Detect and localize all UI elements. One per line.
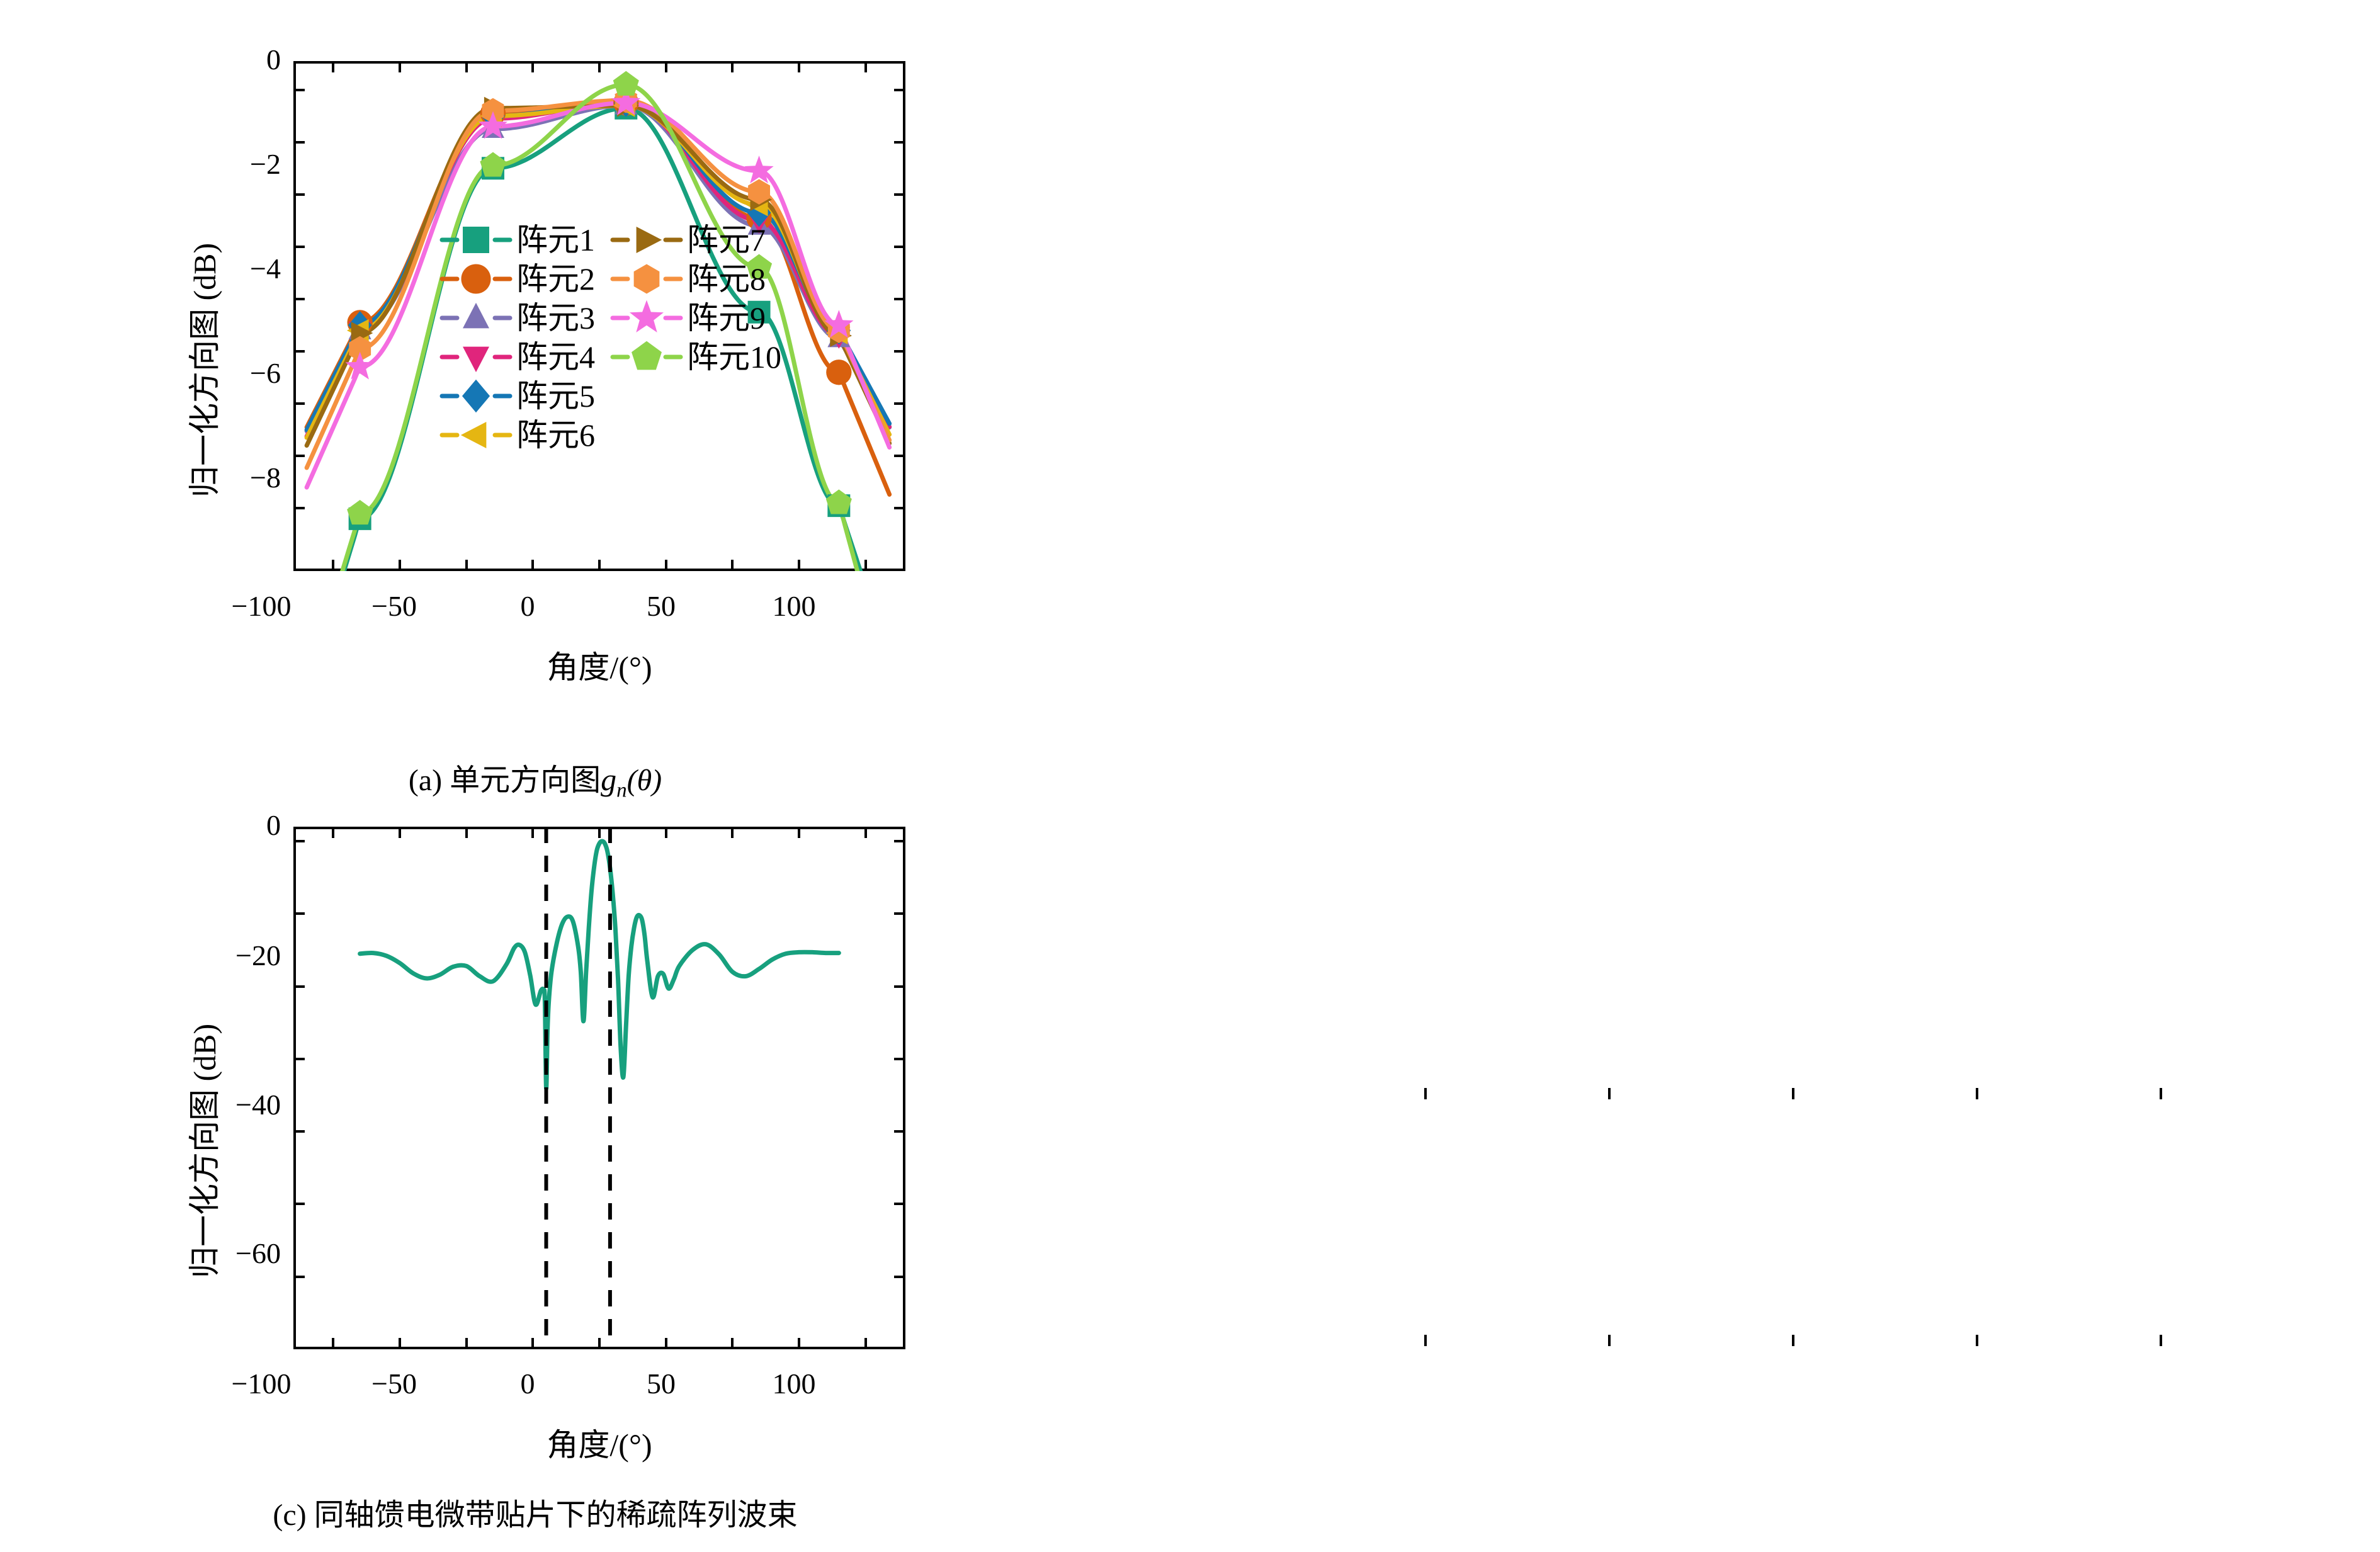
panel-c-plot (293, 827, 905, 1349)
panel-c-xtick-mark (531, 1338, 534, 1349)
panel-b: 60 mm 48.4 mm 50 mm 39.1 mm 25.85 mm (1196, 0, 2380, 844)
legend-item-2[interactable]: 阵元2 (441, 259, 595, 298)
legend-marker-triangle-up-icon (441, 301, 511, 335)
panel-c-ytick-0: 0 (218, 811, 281, 840)
panel-c-xtick-mark-top (598, 827, 601, 838)
panel-a-caption-g: g (601, 762, 616, 797)
panel-d-xtick-mark (1608, 1335, 1611, 1346)
panel-a-xtick-mark-top (332, 61, 334, 72)
legend-item-6[interactable]: 阵元6 (441, 416, 595, 455)
panel-a-ytick-2: −4 (218, 254, 281, 283)
legend-marker-circle-icon (441, 262, 511, 296)
panel-a-ytick-mark-right (894, 193, 905, 196)
panel-a-xtick-mark-top (798, 61, 800, 72)
panel-c-xtick-mark (332, 1338, 334, 1349)
panel-c-ylabel: 归一化方向图 (dB) (189, 1024, 220, 1278)
panel-d-xtick-mark (2160, 1335, 2162, 1346)
panel-c-ytick-mark (293, 1058, 305, 1060)
legend-item-5[interactable]: 阵元5 (441, 377, 595, 416)
legend-marker-diamond-icon (441, 379, 511, 413)
panel-a-ytick-mark-right (894, 89, 905, 91)
panel-c-ytick-mark (293, 1130, 305, 1133)
panel-c-ytick-mark-right (894, 1276, 905, 1278)
panel-a-ytick-mark-right (894, 350, 905, 353)
panel-c-caption: (c) 同轴馈电微带贴片下的稀疏阵列波束 (157, 1495, 913, 1536)
legend-label-8: 阵元8 (687, 263, 766, 295)
legend-label-1: 阵元1 (516, 224, 595, 256)
panel-c-ytick-mark-right (894, 985, 905, 988)
panel-a-ytick-0: 0 (230, 45, 281, 74)
legend-label-6: 阵元6 (516, 419, 595, 451)
panel-a-ytick-mark-right (894, 246, 905, 248)
panel-a-xtick-mark-top (399, 61, 401, 72)
legend-item-4[interactable]: 阵元4 (441, 337, 595, 377)
panel-d-xtick-mark-top (1608, 1088, 1611, 1099)
panel-c-xtick-3: 50 (598, 1369, 724, 1398)
panel-a-xtick-mark-top (665, 61, 667, 72)
panel-d-xtick-mark-top (2160, 1088, 2162, 1099)
panel-a-xtick-mark (465, 560, 468, 571)
panel-a-xtick-mark (399, 560, 401, 571)
panel-c-ytick-mark-right (894, 1203, 905, 1205)
panel-c-ytick-mark (293, 985, 305, 988)
panel-a-ytick-mark (293, 89, 305, 91)
panel-a-xtick-1: −50 (331, 592, 457, 621)
panel-c-ytick-mark-right (894, 1058, 905, 1060)
panel-a-xtick-3: 50 (598, 592, 724, 621)
panel-a-ylabel: 归一化方向图 (dB) (189, 243, 220, 497)
panel-a-ytick-mark-right (894, 402, 905, 405)
panel-c-ytick-mark (293, 912, 305, 915)
panel-c-xtick-0: −100 (198, 1369, 324, 1398)
panel-d-xtick-mark (1792, 1335, 1794, 1346)
panel-a-xtick-mark (665, 560, 667, 571)
panel-a-xtick-mark (598, 560, 601, 571)
panel-a-ytick-mark (293, 298, 305, 300)
legend-spacer (611, 416, 781, 455)
panel-a-xtick-mark (731, 560, 734, 571)
panel-c-ytick-mark-right (894, 912, 905, 915)
legend-marker-star-icon (611, 301, 682, 335)
panel-a-xtick-mark-top (598, 61, 601, 72)
panel-a-ytick-mark (293, 455, 305, 457)
panel-c-xtick-1: −50 (331, 1369, 457, 1398)
panel-a-ytick-1: −2 (218, 150, 281, 179)
legend-label-4: 阵元4 (516, 341, 595, 373)
panel-a-xtick-mark-top (465, 61, 468, 72)
panel-a-caption-theta: (θ) (627, 764, 662, 797)
legend-label-5: 阵元5 (516, 380, 595, 412)
panel-c-xtick-mark-top (864, 827, 867, 838)
panel-a-ytick-mark (293, 350, 305, 353)
panel-c-ytick-1: −20 (199, 941, 281, 970)
panel-a-legend: 阵元1阵元7阵元2阵元8阵元3阵元9阵元4阵元10阵元5阵元6 (441, 220, 781, 455)
legend-item-7[interactable]: 阵元7 (611, 220, 781, 259)
panel-c-ytick-mark-right (894, 840, 905, 842)
panel-c-xtick-mark-top (465, 827, 468, 838)
panel-a-ytick-mark-right (894, 455, 905, 457)
panel-a-xtick-mark-top (531, 61, 534, 72)
panel-a-ytick-4: −8 (218, 463, 281, 492)
panel-d-xtick-mark-top (1424, 1088, 1427, 1099)
legend-spacer (611, 377, 781, 416)
panel-a-xlabel: 角度/(°) (411, 652, 788, 683)
panel-a-ytick-mark (293, 246, 305, 248)
legend-item-9[interactable]: 阵元9 (611, 298, 781, 337)
panel-c-ytick-mark (293, 1203, 305, 1205)
legend-marker-triangle-right-icon (611, 223, 682, 257)
panel-d-xtick-mark-top (1976, 1088, 1978, 1099)
panel-c-xtick-4: 100 (731, 1369, 857, 1398)
legend-label-2: 阵元2 (516, 263, 595, 295)
legend-marker-triangle-down-icon (441, 340, 511, 374)
panel-a-xtick-mark-top (864, 61, 867, 72)
panel-a-ytick-mark (293, 141, 305, 144)
panel-a-caption-prefix: (a) 单元方向图 (409, 764, 601, 797)
panel-a-xtick-mark (798, 560, 800, 571)
panel-c-xtick-mark-top (731, 827, 734, 838)
legend-marker-hexagon-icon (611, 262, 682, 296)
panel-a-caption-n: n (616, 779, 627, 801)
panel-a-ytick-3: −6 (218, 359, 281, 388)
panel-a-ytick-mark-right (894, 141, 905, 144)
panel-a-ytick-mark (293, 402, 305, 405)
panel-a-xtick-mark (864, 560, 867, 571)
panel-c-ytick-mark (293, 1276, 305, 1278)
legend-marker-pentagon-icon (611, 340, 682, 374)
panel-c: 0 −20 −40 −60 −100 −50 0 50 100 角度/(°) 归… (0, 800, 1070, 1551)
panel-a-xtick-0: −100 (198, 592, 324, 621)
panel-c-ytick-mark-right (894, 1130, 905, 1133)
panel-a-xtick-mark (531, 560, 534, 571)
panel-c-xtick-mark-top (798, 827, 800, 838)
panel-c-xtick-2: 0 (465, 1369, 591, 1398)
panel-c-xtick-mark-top (665, 827, 667, 838)
panel-c-xtick-mark-top (399, 827, 401, 838)
panel-c-xtick-mark (798, 1338, 800, 1349)
legend-marker-square-icon (441, 223, 511, 257)
panel-d-xtick-mark (1976, 1335, 1978, 1346)
legend-item-8[interactable]: 阵元8 (611, 259, 781, 298)
panel-a-ytick-mark-right (894, 507, 905, 509)
panel-c-xtick-mark (864, 1338, 867, 1349)
panel-c-xtick-mark (399, 1338, 401, 1349)
legend-label-9: 阵元9 (687, 302, 766, 334)
panel-c-ytick-mark (293, 840, 305, 842)
panel-c-xtick-mark-top (332, 827, 334, 838)
panel-a-caption: (a) 单元方向图gn(θ) (220, 718, 850, 805)
panel-d: 2 4 6 8 10 阵元位置 (d) 提出的方法所选择的9个天线 (1196, 869, 2380, 1551)
legend-label-10: 阵元10 (687, 341, 781, 373)
panel-a-ytick-mark-right (894, 298, 905, 300)
panel-a-ytick-mark (293, 193, 305, 196)
legend-marker-triangle-left-icon (441, 418, 511, 452)
panel-c-xtick-mark (731, 1338, 734, 1349)
legend-item-3[interactable]: 阵元3 (441, 298, 595, 337)
panel-d-xtick-mark-top (1792, 1088, 1794, 1099)
legend-item-10[interactable]: 阵元10 (611, 337, 781, 377)
panel-c-xtick-mark (598, 1338, 601, 1349)
panel-a-xtick-mark-top (731, 61, 734, 72)
panel-a-xtick-mark (332, 560, 334, 571)
panel-d-xtick-mark (1424, 1335, 1427, 1346)
panel-a-xtick-2: 0 (465, 592, 591, 621)
panel-a-ytick-mark (293, 507, 305, 509)
panel-c-xtick-mark-top (531, 827, 534, 838)
panel-c-xlabel: 角度/(°) (411, 1429, 788, 1461)
panel-c-xtick-mark (665, 1338, 667, 1349)
legend-item-1[interactable]: 阵元1 (441, 220, 595, 259)
panel-a: 0 −2 −4 −6 −8 −100 −50 0 50 100 角度/(°) 归… (0, 0, 1070, 793)
legend-label-7: 阵元7 (687, 224, 766, 256)
panel-a-xtick-4: 100 (731, 592, 857, 621)
panel-c-xtick-mark (465, 1338, 468, 1349)
legend-label-3: 阵元3 (516, 302, 595, 334)
